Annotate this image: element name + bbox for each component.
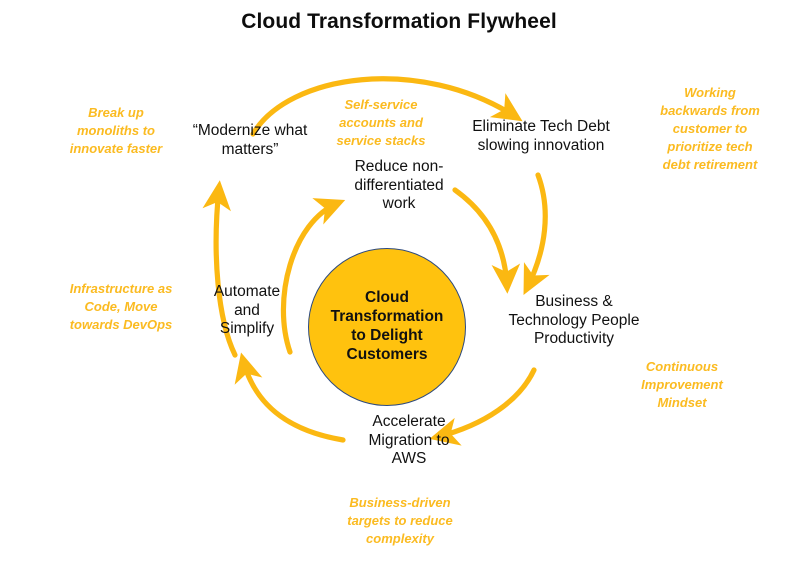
hub-circle: CloudTransformationto DelightCustomers [308,248,466,406]
node-tech-debt: Eliminate Tech Debtslowing innovation [452,118,630,155]
note-working-backwards: Workingbackwards fromcustomer toprioriti… [630,84,790,174]
note-infrastructure-code: Infrastructure asCode, Movetowards DevOp… [48,280,194,334]
hub-label: CloudTransformationto DelightCustomers [323,289,452,365]
flywheel-diagram: Cloud Transformation Flywheel CloudTrans… [0,0,798,570]
note-business-driven: Business-driventargets to reducecomplexi… [310,494,490,548]
note-break-up-monoliths: Break upmonoliths toinnovate faster [42,104,190,158]
page-title: Cloud Transformation Flywheel [0,10,798,34]
note-continuous-improvement: ContinuousImprovementMindset [608,358,756,412]
note-self-service: Self-serviceaccounts andservice stacks [316,96,446,150]
arrow-tech-debt-to-business [527,175,545,288]
node-automate: AutomateandSimplify [190,283,304,339]
node-aws: AccelerateMigration toAWS [334,413,484,469]
node-business: Business &Technology PeopleProductivity [494,293,654,349]
node-reduce: Reduce non-differentiatedwork [330,158,468,214]
